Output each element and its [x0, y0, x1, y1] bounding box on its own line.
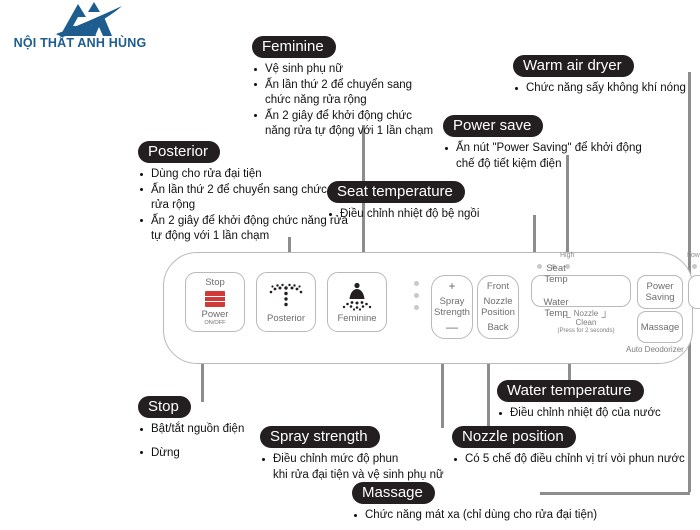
seat-temp-high-label: High [560, 252, 574, 259]
callout-posterior: Posterior Dùng cho rửa đại tiện Ấn lần t… [138, 141, 353, 245]
power-stop-sub-label: ON/OFF [204, 320, 225, 327]
spray-strength-plus[interactable]: + [448, 281, 455, 292]
posterior-spray-icon [266, 281, 306, 313]
callout-spray-strength: Spray strength Điều chỉnh mức độ phun kh… [260, 426, 450, 483]
bullet: Điều chỉnh nhiệt độ bệ ngồi [327, 207, 537, 222]
power-switch-icon [205, 291, 225, 307]
brand-name: NỘI THẤT ANH HÙNG [0, 36, 160, 50]
nozzle-position-button[interactable]: Front Nozzle Position Back [477, 275, 519, 339]
bullet: Ấn 2 giây để khởi động chức [252, 109, 447, 124]
nozzle-clean-label-2: Clean [574, 318, 598, 327]
callout-water-temperature-title: Water temperature [497, 380, 644, 402]
callout-nozzle-position-title: Nozzle position [452, 426, 576, 448]
callout-massage-title: Massage [352, 482, 435, 504]
feminine-button-label: Feminine [337, 313, 376, 324]
spray-strength-label-2: Strength [434, 307, 470, 318]
callout-seat-temperature: Seat temperature Điều chỉnh nhiệt độ bệ … [327, 181, 537, 223]
callout-power-save: Power save Ấn nút "Power Saving" để khởi… [443, 115, 643, 172]
ah-monogram-logo-icon [0, 0, 160, 40]
feminine-spray-icon [337, 281, 377, 313]
callout-feminine: Feminine Vệ sinh phụ nữ Ấn lần thứ 2 để … [252, 36, 447, 140]
seat-temp-label-2: Temp [544, 274, 567, 285]
nozzle-position-front[interactable]: Front [487, 281, 509, 292]
indicator-dot [414, 281, 419, 286]
bullet: Chức năng mát xa (chỉ dùng cho rửa đại t… [352, 508, 642, 523]
bullet: Ấn nút "Power Saving" để khởi động [443, 141, 643, 156]
indicator-dot [414, 293, 419, 298]
callout-water-temperature: Water temperature Điều chỉnh nhiệt độ củ… [497, 380, 697, 422]
bullet: Chức năng sấy không khí nóng [513, 81, 698, 96]
callout-power-save-bullets: Ấn nút "Power Saving" để khởi động chế đ… [443, 141, 643, 171]
bullet-continuation: chế độ tiết kiệm điện [443, 157, 643, 172]
bullet: Dùng cho rửa đại tiện [138, 167, 353, 182]
auto-deodorizer-caption: Auto Deodorizer [626, 345, 684, 354]
bullet-continuation: năng rửa tự động với 1 lần chạm [252, 124, 447, 139]
bullet: Vệ sinh phụ nữ [252, 62, 447, 77]
callout-massage-bullets: Chức năng mát xa (chỉ dùng cho rửa đại t… [352, 508, 642, 523]
diagram-canvas: NỘI THẤT ANH HÙNG Feminine Vệ sinh phụ n… [0, 0, 700, 530]
nozzle-clean-note: (Press for 2 seconds) [536, 328, 636, 334]
feminine-button[interactable]: Feminine [327, 272, 387, 332]
massage-button-label: Massage [641, 322, 680, 333]
seat-temp-label-1: Seat [546, 263, 566, 274]
callout-warm-air-dryer: Warm air dryer Chức năng sấy không khí n… [513, 55, 698, 97]
nozzle-position-back[interactable]: Back [487, 322, 508, 333]
callout-water-temperature-bullets: Điều chỉnh nhiệt độ của nước [497, 406, 697, 421]
spray-strength-button[interactable]: + Spray Strength — [431, 275, 473, 339]
callout-massage: Massage Chức năng mát xa (chỉ dùng cho r… [352, 482, 642, 524]
bullet-continuation: tự động với 1 lần chạm [138, 229, 353, 244]
bullet: Điều chỉnh nhiệt độ của nước [497, 406, 697, 421]
bullet: Điều chỉnh mức độ phun [260, 452, 450, 467]
indicator-dot [414, 305, 419, 310]
nozzle-clean-label-1: Nozzle [574, 309, 598, 318]
nozzle-position-label-1: Nozzle [483, 296, 512, 307]
connector-dryer-vert [688, 72, 691, 294]
connector-nozzle-position [487, 358, 490, 428]
power-saving-label-2: Saving [645, 292, 674, 303]
seat-water-temp-button-group[interactable]: Seat Temp Water Temp [531, 275, 631, 307]
bracket-right-icon: ┘ [601, 312, 609, 324]
callout-nozzle-position-bullets: Có 5 chế độ điều chỉnh vị trí vòi phun n… [452, 452, 692, 467]
dryer-low-label: Low [687, 252, 700, 259]
callout-stop-title: Stop [138, 396, 191, 418]
power-stop-button[interactable]: Stop Power ON/OFF [185, 272, 245, 332]
callout-warm-air-dryer-bullets: Chức năng sấy không khí nóng [513, 81, 698, 96]
bullet: Ấn 2 giây để khởi động chức năng rửa [138, 214, 353, 229]
control-panel: Stop Power ON/OFF Posterior [163, 252, 693, 364]
power-saving-button[interactable]: Power Saving [637, 275, 683, 309]
bullet: Ấn lần thứ 2 để chuyển sang chức năng [138, 183, 353, 198]
callout-spray-strength-bullets: Điều chỉnh mức độ phun khi rửa đại tiện … [260, 452, 450, 482]
posterior-button[interactable]: Posterior [256, 272, 316, 332]
bullet: Ấn lần thứ 2 để chuyển sang [252, 78, 447, 93]
nozzle-position-label-2: Position [481, 307, 515, 318]
dryer-indicator-dots [692, 264, 700, 269]
brand-logo: NỘI THẤT ANH HÙNG [0, 0, 160, 54]
callout-power-save-title: Power save [443, 115, 543, 137]
callout-feminine-title: Feminine [252, 36, 336, 58]
bracket-left-icon: └ [563, 312, 571, 324]
bullet: Có 5 chế độ điều chỉnh vị trí vòi phun n… [452, 452, 692, 467]
callout-seat-temperature-bullets: Điều chỉnh nhiệt độ bệ ngồi [327, 207, 537, 222]
spray-strength-minus[interactable]: — [446, 322, 458, 333]
callout-spray-strength-title: Spray strength [260, 426, 380, 448]
power-saving-label-1: Power [647, 281, 674, 292]
callout-nozzle-position: Nozzle position Có 5 chế độ điều chỉnh v… [452, 426, 692, 468]
callout-posterior-title: Posterior [138, 141, 220, 163]
spray-strength-label-1: Spray [440, 296, 465, 307]
connector-spray-strength [441, 358, 444, 428]
water-temp-label-1: Water [544, 297, 569, 308]
seat-temp-button[interactable]: Seat Temp [532, 263, 580, 285]
power-stop-top-label: Stop [205, 277, 225, 288]
nozzle-clean-caption: └ Nozzle Clean ┘ (Press for 2 seconds) [536, 309, 636, 334]
posterior-button-label: Posterior [267, 313, 305, 324]
bullet-continuation: khi rửa đại tiện và vệ sinh phụ nữ [260, 468, 450, 483]
power-stop-bottom-label: Power [202, 309, 229, 320]
callout-feminine-bullets: Vệ sinh phụ nữ Ấn lần thứ 2 để chuyển sa… [252, 62, 447, 139]
callout-posterior-bullets: Dùng cho rửa đại tiện Ấn lần thứ 2 để ch… [138, 167, 353, 244]
massage-button[interactable]: Massage [637, 311, 683, 343]
spray-strength-indicator-dots [414, 281, 419, 310]
indicator-dot [692, 264, 697, 269]
callout-warm-air-dryer-title: Warm air dryer [513, 55, 634, 77]
dryer-button[interactable]: Dryer [688, 275, 700, 309]
callout-seat-temperature-title: Seat temperature [327, 181, 465, 203]
bullet-continuation: rửa rộng [138, 198, 353, 213]
bullet-continuation: chức năng rửa rộng [252, 93, 447, 108]
